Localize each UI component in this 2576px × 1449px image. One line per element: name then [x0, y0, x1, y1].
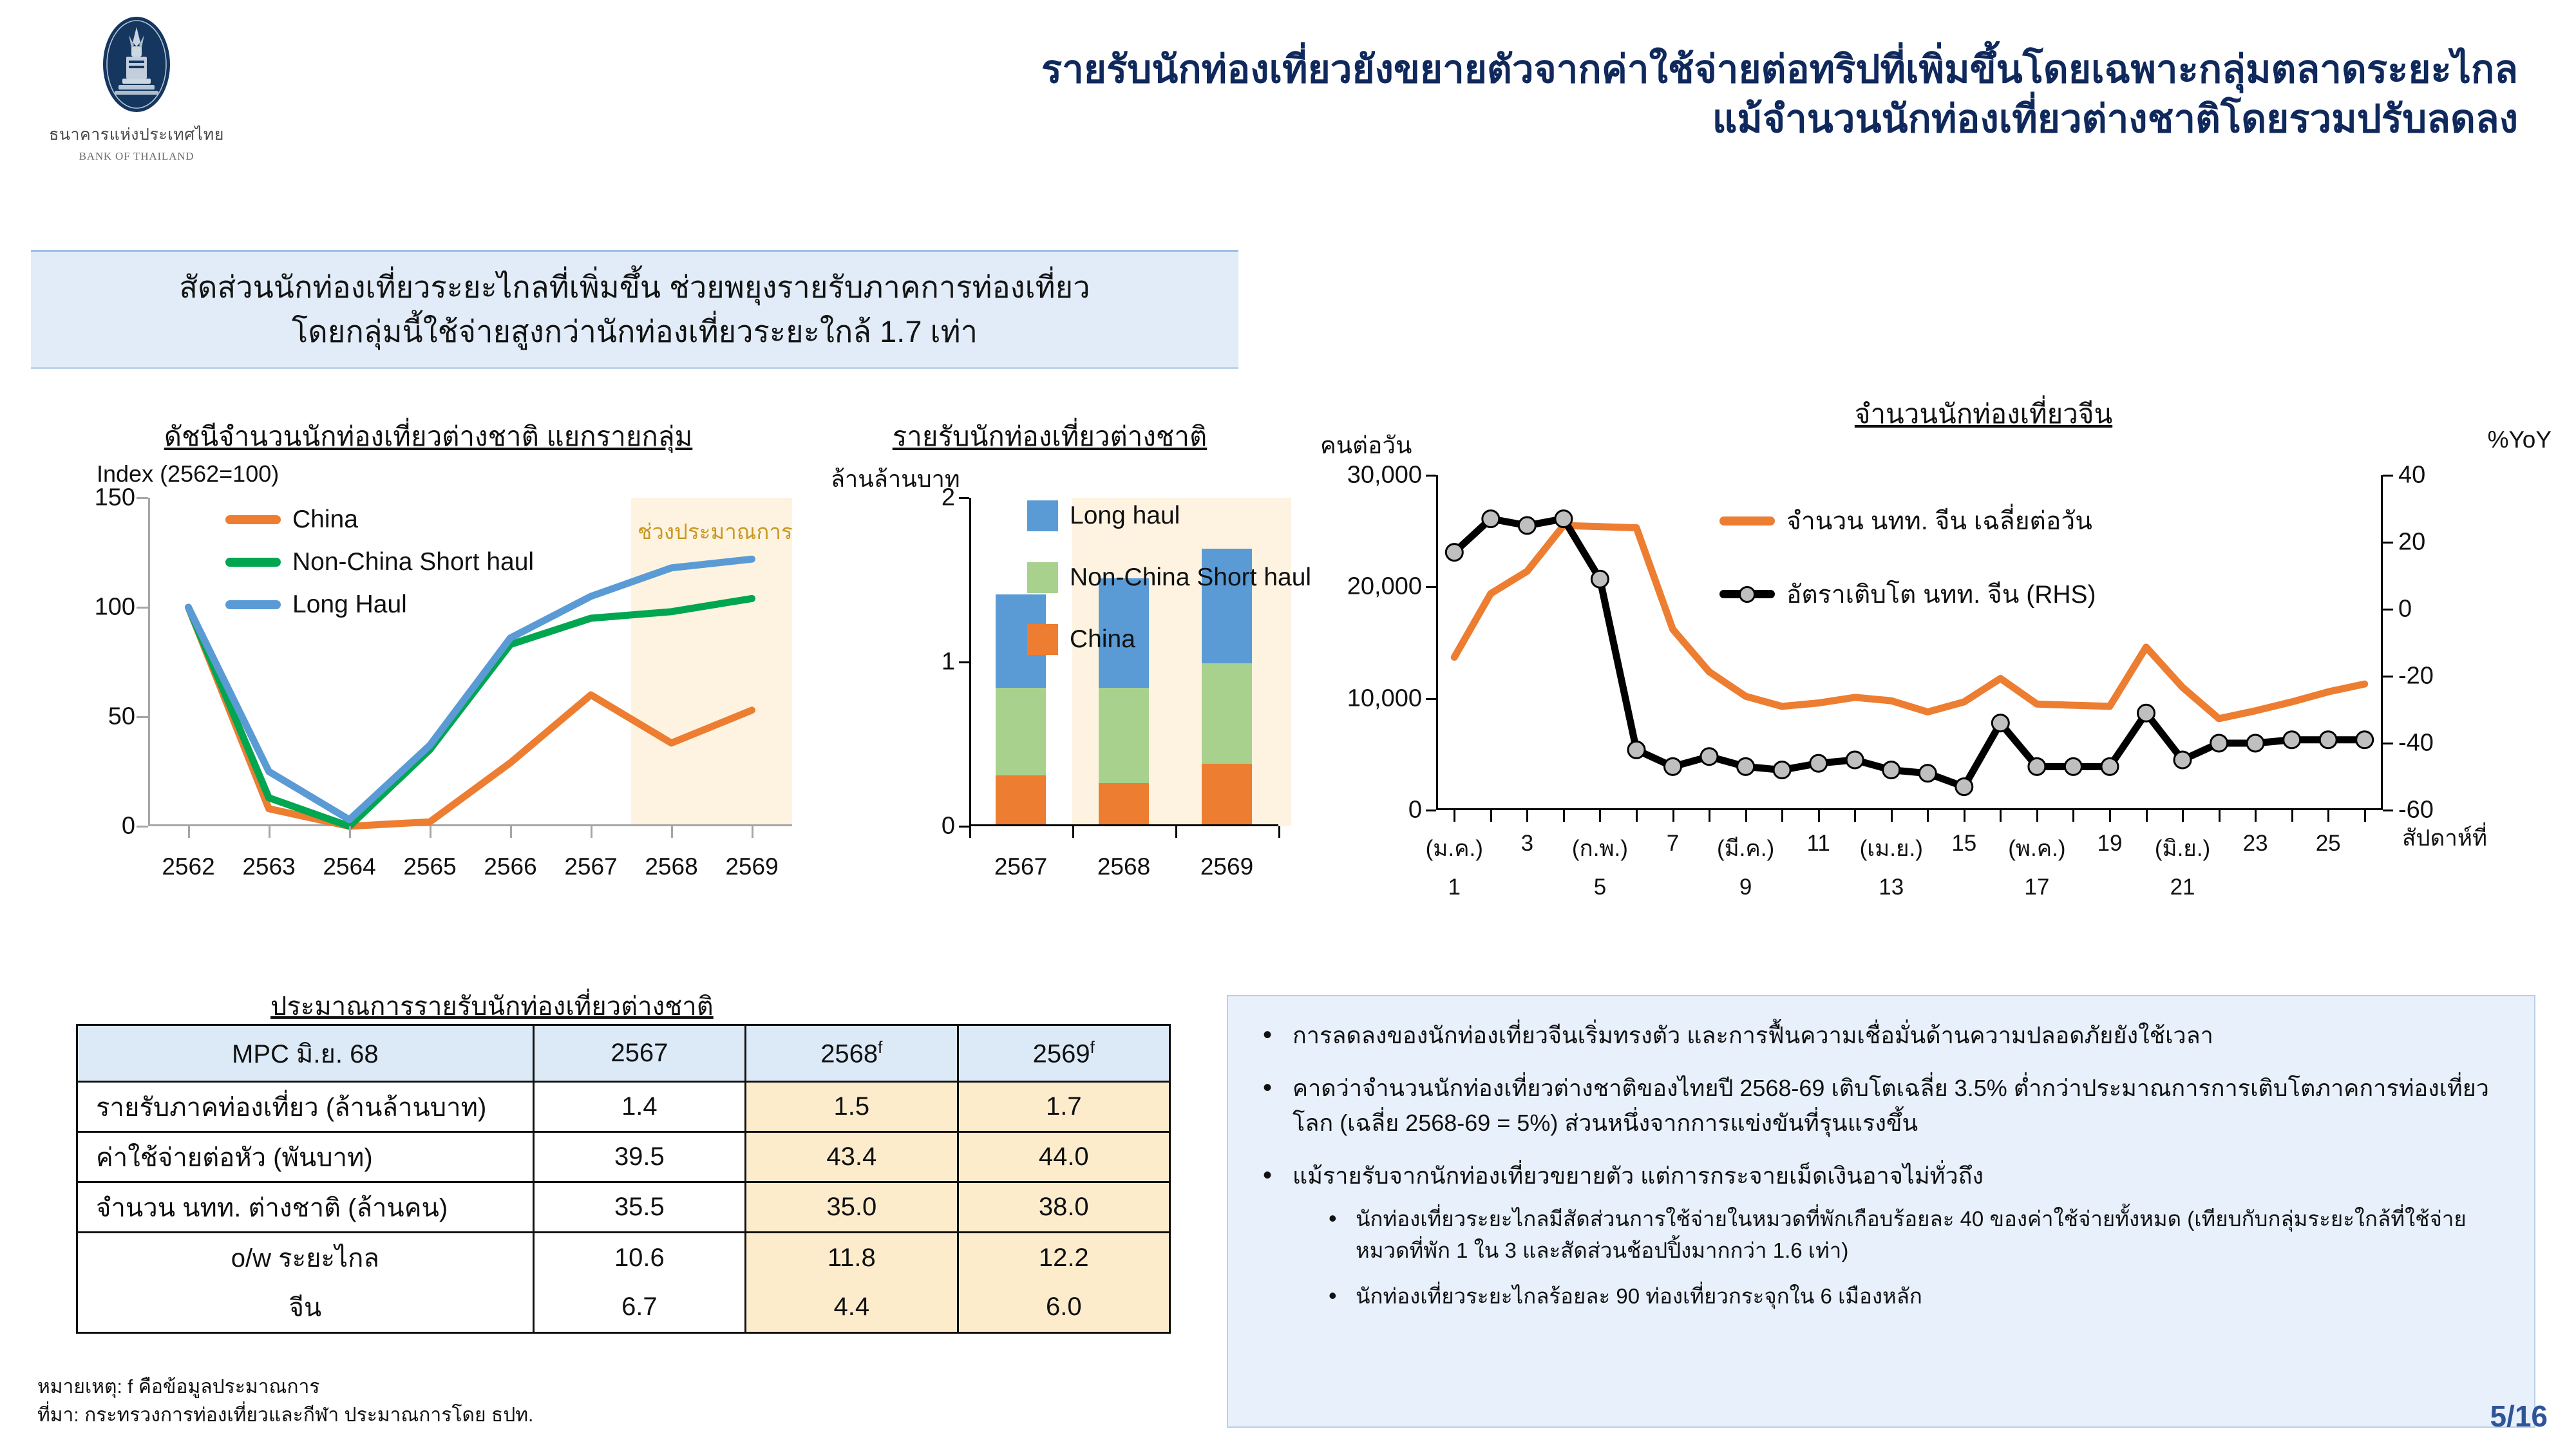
chart1-x-tickmark: [510, 826, 512, 838]
chart2-x-tick-label: 2567: [994, 853, 1047, 880]
page-title-line-2: แม้จำนวนนักท่องเที่ยวต่างชาติโดยรวมปรับล…: [779, 95, 2518, 144]
table-cell: 12.2: [958, 1233, 1170, 1283]
chart1-legend-label: China: [292, 506, 358, 534]
table-cell: 1.4: [533, 1082, 745, 1132]
chart1-x-tickmark: [591, 826, 592, 838]
table-cell: 35.0: [746, 1182, 958, 1233]
bullet-item: คาดว่าจำนวนนักท่องเที่ยวต่างชาติของไทยปี…: [1256, 1071, 2495, 1141]
footnote-source: ที่มา: กระทรวงการท่องเที่ยวและกีฬา ประมา…: [37, 1401, 533, 1430]
legend-color-swatch: [1027, 500, 1058, 531]
chart3-x-tickmark: [1927, 810, 1929, 822]
slide-root: ธนาคารแห่งประเทศไทย BANK OF THAILAND ราย…: [0, 0, 2576, 1449]
chart2-bar-segment-china: [1202, 764, 1252, 824]
page-number: 5/16: [2490, 1399, 2548, 1434]
table-column-header: MPC มิ.ย. 68: [77, 1025, 534, 1082]
chart1-y-tickmark: [137, 826, 148, 828]
chart1-legend-item: China: [225, 506, 534, 534]
chart3-x-tickmark: [2109, 810, 2111, 822]
chart3-x-tick-label-top: 7: [1667, 831, 1679, 857]
chart3-x-tickmark: [2291, 810, 2293, 822]
legend-line-swatch: [1719, 516, 1775, 526]
chart3-left-tickmark: [1426, 810, 1436, 811]
chart2-x-tickmark: [1072, 826, 1074, 838]
chart3-right-tickmark: [2383, 743, 2393, 744]
chart3-x-tickmark: [1490, 810, 1492, 822]
table-cell: 4.4: [746, 1283, 958, 1333]
brand-name-en: BANK OF THAILAND: [46, 150, 227, 163]
chart2-legend-item: Long haul: [1027, 500, 1311, 531]
commentary-panel: การลดลงของนักท่องเที่ยวจีนเริ่มทรงตัว แล…: [1227, 995, 2535, 1428]
chart2-legend-label: Long haul: [1070, 502, 1180, 530]
chart1-legend-item: Non-China Short haul: [225, 548, 534, 576]
chart3-x-tick-label-top: (ม.ค.): [1426, 831, 1483, 866]
chart2-title: รายรับนักท่องเที่ยวต่างชาติ: [831, 415, 1269, 458]
chart3-x-tickmark: [2364, 810, 2366, 822]
chart3-x-tick-label-bottom: 1: [1448, 875, 1461, 900]
chart3-left-tickmark: [1426, 698, 1436, 700]
chart3-x-tick-label-top: 23: [2243, 831, 2268, 857]
chart1-legend-label: Long Haul: [292, 591, 407, 619]
chart3-x-tickmark: [2327, 810, 2329, 822]
chart3-x-tick-label-top: (มี.ค.): [1717, 831, 1774, 866]
bullet-item: การลดลงของนักท่องเที่ยวจีนเริ่มทรงตัว แล…: [1256, 1018, 2495, 1053]
chart2-legend-item: China: [1027, 624, 1311, 655]
chart3-x-tickmark: [1672, 810, 1674, 822]
chart3-right-tickmark: [2383, 542, 2393, 544]
chart3-x-tick-label-top: (เม.ย.): [1860, 831, 1923, 866]
chart1-x-tickmark: [671, 826, 673, 838]
chart2-y-tickmark: [959, 497, 969, 499]
sub-bullet-list: นักท่องเที่ยวระยะไกลมีสัดส่วนการใช้จ่ายใ…: [1323, 1204, 2495, 1312]
table-row-label: จีน: [77, 1283, 534, 1333]
table-row: รายรับภาคท่องเที่ยว (ล้านล้านบาท)1.41.51…: [77, 1082, 1170, 1132]
chart2-bar-segment-non-china-short-haul: [996, 688, 1046, 775]
table-cell: 44.0: [958, 1132, 1170, 1182]
table-column-header: 2567: [533, 1025, 745, 1082]
chart1-x-tickmark: [349, 826, 351, 838]
chart1-y-tickmark: [137, 607, 148, 609]
chart1-legend: ChinaNon-China Short haulLong Haul: [225, 506, 534, 633]
chart3-x-tickmark: [1891, 810, 1893, 822]
legend-color-swatch: [1027, 624, 1058, 655]
bullet-item: แม้รายรับจากนักท่องเที่ยวขยายตัว แต่การก…: [1256, 1159, 2495, 1312]
chart1-x-tickmark: [188, 826, 190, 838]
chart3-x-tickmark: [1964, 810, 1965, 822]
legend-line-swatch: [225, 515, 281, 524]
table-row-label: จำนวน นทท. ต่างชาติ (ล้านคน): [77, 1182, 534, 1233]
brand-name-th: ธนาคารแห่งประเทศไทย: [46, 122, 227, 147]
chart3-right-axis-label: %YoY: [2488, 426, 2552, 453]
chart3-right-tickmark: [2383, 676, 2393, 677]
chart1-y-tickmark: [137, 497, 148, 499]
chart2-x-tickmark: [969, 826, 971, 838]
chart3-x-tickmark: [2000, 810, 2002, 822]
chart3-x-tick-label-top: 15: [1951, 831, 1976, 857]
table-row: ค่าใช้จ่ายต่อหัว (พันบาท)39.543.444.0: [77, 1132, 1170, 1182]
table-column-header: 2568f: [746, 1025, 958, 1082]
chart3-left-tick-label: 10,000: [1347, 685, 1436, 712]
table-cell: 6.7: [533, 1283, 745, 1333]
chart3-x-tick-label-bottom: 21: [2170, 875, 2195, 900]
chart1-x-tickmark: [752, 826, 753, 838]
chart3-x-tick-label-top: (มิ.ย.): [2155, 831, 2210, 866]
bullet-text: แม้รายรับจากนักท่องเที่ยวขยายตัว แต่การก…: [1293, 1162, 1984, 1189]
subtitle-line-2: โดยกลุ่มนี้ใช้จ่ายสูงกว่านักท่องเที่ยวระ…: [292, 310, 978, 354]
bot-seal-icon: [98, 13, 175, 116]
chart-tourist-index-by-group: ดัชนีจำนวนนักท่องเที่ยวต่างชาติ แยกรายกล…: [39, 415, 799, 905]
table-header-row: MPC มิ.ย. 6825672568f2569f: [77, 1025, 1170, 1082]
table-cell: 1.7: [958, 1082, 1170, 1132]
chart3-x-tick-label-bottom: 5: [1594, 875, 1606, 900]
chart3-title: จำนวนนักท่องเที่ยวจีน: [1758, 393, 2209, 435]
chart3-right-tickmark: [2383, 609, 2393, 611]
chart3-right-tickmark: [2383, 810, 2393, 811]
table-row-label: o/w ระยะไกล: [77, 1233, 534, 1283]
chart2-legend-item: Non-China Short haul: [1027, 562, 1311, 593]
table-column-header: 2569f: [958, 1025, 1170, 1082]
chart3-x-tickmark: [2146, 810, 2148, 822]
chart2-bar-segment-non-china-short-haul: [1099, 688, 1149, 783]
chart3-x-tick-label-bottom: 17: [2024, 875, 2049, 900]
chart3-left-tick-label: 20,000: [1347, 573, 1436, 601]
chart1-x-tickmark: [430, 826, 431, 838]
chart3-x-tick-label-top: 19: [2097, 831, 2122, 857]
chart3-x-tick-label-top: 11: [1806, 831, 1830, 857]
footnotes: หมายเหตุ: f คือข้อมูลประมาณการ ที่มา: กร…: [37, 1373, 533, 1429]
chart-tourist-receipts: รายรับนักท่องเที่ยวต่างชาติ ล้านล้านบาท …: [831, 415, 1320, 905]
chart2-legend-label: Non-China Short haul: [1070, 563, 1311, 592]
chart-china-tourist-arrivals: จำนวนนักท่องเที่ยวจีน คนต่อวัน %YoY 010,…: [1307, 393, 2557, 960]
legend-line-swatch: [225, 600, 281, 609]
chart1-x-tick-label: 2569: [725, 853, 778, 880]
sub-bullet-item: นักท่องเที่ยวระยะไกลร้อยละ 90 ท่องเที่ยว…: [1323, 1281, 2495, 1312]
chart2-y-tickmark: [959, 826, 969, 828]
page-title-line-1: รายรับนักท่องเที่ยวยังขยายตัวจากค่าใช้จ่…: [779, 45, 2518, 95]
chart3-x-tickmark: [1526, 810, 1528, 822]
legend-line-marker-swatch: [1719, 586, 1775, 603]
chart3-x-tickmark: [1709, 810, 1710, 822]
table-row: จำนวน นทท. ต่างชาติ (ล้านคน)35.535.038.0: [77, 1182, 1170, 1233]
chart2-x-tick-label: 2569: [1200, 853, 1253, 880]
chart3-legend-item: อัตราเติบโต นทท. จีน (RHS): [1719, 574, 2096, 614]
chart3-legend: จำนวน นทท. จีน เฉลี่ยต่อวันอัตราเติบโต น…: [1719, 501, 2096, 648]
legend-line-swatch: [225, 558, 281, 567]
chart3-x-tickmark: [1563, 810, 1565, 822]
chart3-x-axis-caption: สัปดาห์ที่: [2402, 820, 2487, 856]
table-cell: 1.5: [746, 1082, 958, 1132]
chart3-x-tickmark: [2219, 810, 2221, 822]
bullet-text: คาดว่าจำนวนนักท่องเที่ยวต่างชาติของไทยปี…: [1293, 1075, 2489, 1136]
chart3-x-tick-label-bottom: 13: [1879, 875, 1904, 900]
forecast-superscript: f: [1090, 1037, 1095, 1057]
chart1-x-tick-label: 2565: [403, 853, 456, 880]
table-row: o/w ระยะไกล10.611.812.2: [77, 1233, 1170, 1283]
chart1-x-tick-label: 2563: [242, 853, 295, 880]
chart2-x-axis: [969, 824, 1278, 826]
chart1-x-tick-label: 2567: [564, 853, 617, 880]
table-row-label: รายรับภาคท่องเที่ยว (ล้านล้านบาท): [77, 1082, 534, 1132]
forecast-superscript: f: [878, 1037, 882, 1057]
chart3-left-tickmark: [1426, 586, 1436, 588]
chart2-legend-label: China: [1070, 625, 1135, 654]
chart1-legend-item: Long Haul: [225, 591, 534, 619]
brand-logo: ธนาคารแห่งประเทศไทย BANK OF THAILAND: [46, 13, 227, 163]
chart3-x-tickmark: [2036, 810, 2038, 822]
table-cell: 39.5: [533, 1132, 745, 1182]
chart1-y-tickmark: [137, 716, 148, 718]
chart1-x-tick-label: 2568: [645, 853, 697, 880]
chart3-legend-item: จำนวน นทท. จีน เฉลี่ยต่อวัน: [1719, 501, 2096, 541]
chart3-legend-label: อัตราเติบโต นทท. จีน (RHS): [1786, 574, 2096, 614]
chart2-bar-segment-china: [1099, 783, 1149, 824]
table-cell: 10.6: [533, 1233, 745, 1283]
chart1-x-tick-label: 2566: [484, 853, 536, 880]
table-cell: 11.8: [746, 1233, 958, 1283]
bullet-list: การลดลงของนักท่องเที่ยวจีนเริ่มทรงตัว แล…: [1256, 1018, 2495, 1312]
chart3-x-tickmark: [2255, 810, 2257, 822]
chart3-x-tick-label-top: 25: [2316, 831, 2341, 857]
chart1-x-tick-label: 2562: [162, 853, 214, 880]
chart3-x-tick-label-top: (พ.ค.): [2008, 831, 2065, 866]
chart2-y-tickmark: [959, 661, 969, 663]
forecast-table-title: ประมาณการรายรับนักท่องเที่ยวต่างชาติ: [270, 985, 714, 1027]
subtitle-banner: สัดส่วนนักท่องเที่ยวระยะไกลที่เพิ่มขึ้น …: [31, 250, 1238, 369]
footnote-note: หมายเหตุ: f คือข้อมูลประมาณการ: [37, 1373, 533, 1401]
chart2-x-tick-label: 2568: [1097, 853, 1150, 880]
chart1-title: ดัชนีจำนวนนักท่องเที่ยวต่างชาติ แยกรายกล…: [122, 415, 734, 458]
chart2-bar-segment-china: [996, 775, 1046, 825]
chart3-x-tickmark: [2182, 810, 2184, 822]
chart3-x-tick-label-top: (ก.พ.): [1572, 831, 1628, 866]
chart3-x-tickmark: [1745, 810, 1747, 822]
chart3-x-tickmark: [1854, 810, 1856, 822]
chart3-left-tickmark: [1426, 475, 1436, 477]
chart2-y-axis: [969, 498, 971, 826]
page-title: รายรับนักท่องเที่ยวยังขยายตัวจากค่าใช้จ่…: [779, 45, 2518, 144]
chart2-x-tickmark: [1278, 826, 1280, 838]
chart2-y-axis-label: ล้านล้านบาท: [831, 460, 960, 497]
table-body: รายรับภาคท่องเที่ยว (ล้านล้านบาท)1.41.51…: [77, 1082, 1170, 1333]
chart3-x-tickmark: [2072, 810, 2074, 822]
chart3-x-tickmark: [1454, 810, 1455, 822]
table-cell: 35.5: [533, 1182, 745, 1233]
chart1-x-tick-label: 2564: [323, 853, 375, 880]
subtitle-line-1: สัดส่วนนักท่องเที่ยวระยะไกลที่เพิ่มขึ้น …: [179, 265, 1090, 309]
chart3-right-tickmark: [2383, 475, 2393, 477]
chart3-x-tickmark: [1818, 810, 1820, 822]
table-cell: 38.0: [958, 1182, 1170, 1233]
chart3-left-tick-label: 30,000: [1347, 462, 1436, 489]
table-row-label: ค่าใช้จ่ายต่อหัว (พันบาท): [77, 1132, 534, 1182]
legend-color-swatch: [1027, 562, 1058, 593]
bullet-text: การลดลงของนักท่องเที่ยวจีนเริ่มทรงตัว แล…: [1293, 1022, 2213, 1048]
chart3-x-tickmark: [1781, 810, 1783, 822]
chart3-x-tick-label-bottom: 9: [1739, 875, 1752, 900]
chart1-x-tickmark: [269, 826, 270, 838]
table-cell: 6.0: [958, 1283, 1170, 1333]
chart3-left-axis-label: คนต่อวัน: [1320, 426, 1412, 464]
chart3-legend-label: จำนวน นทท. จีน เฉลี่ยต่อวัน: [1786, 501, 2092, 541]
chart3-x-tickmark: [1599, 810, 1601, 822]
chart2-x-tickmark: [1175, 826, 1177, 838]
forecast-table: MPC มิ.ย. 6825672568f2569f รายรับภาคท่อง…: [76, 1024, 1171, 1334]
table-row: จีน6.74.46.0: [77, 1283, 1170, 1333]
chart3-x-tick-label-top: 3: [1521, 831, 1533, 857]
chart1-legend-label: Non-China Short haul: [292, 548, 534, 576]
chart2-legend: Long haulNon-China Short haulChina: [1027, 500, 1311, 686]
sub-bullet-item: นักท่องเที่ยวระยะไกลมีสัดส่วนการใช้จ่ายใ…: [1323, 1204, 2495, 1267]
table-cell: 43.4: [746, 1132, 958, 1182]
chart3-x-tickmark: [1636, 810, 1638, 822]
